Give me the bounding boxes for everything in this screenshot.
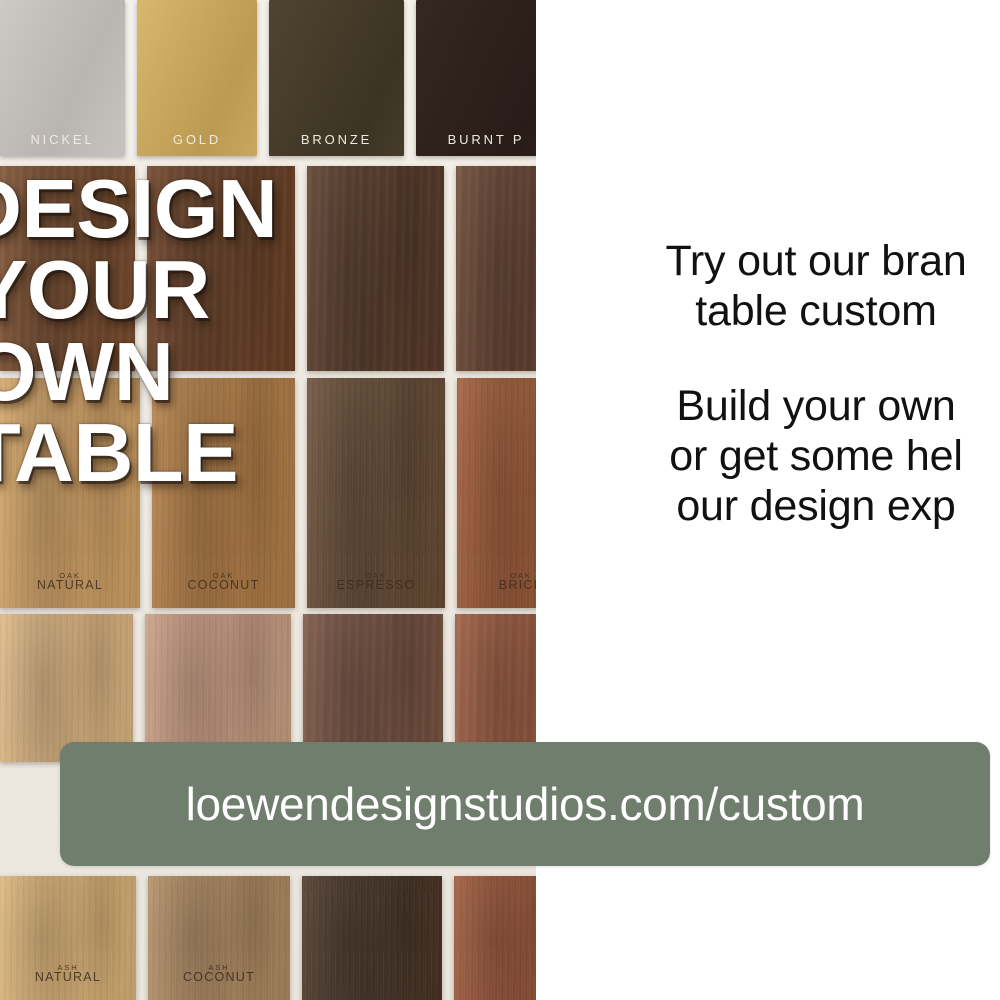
url-call-to-action-banner[interactable]: loewendesignstudios.com/custom bbox=[60, 742, 990, 866]
wood-grain-texture bbox=[457, 378, 536, 608]
wood-grain-texture bbox=[0, 378, 140, 608]
wood-grain-texture bbox=[302, 876, 442, 1000]
copy-paragraph-1: Try out our bran table custom bbox=[536, 236, 1000, 337]
promo-graphic-canvas: NICKEL GOLD BRONZE BURNT P bbox=[0, 0, 1000, 1000]
swatch-label: NICKEL bbox=[0, 133, 125, 146]
wood-finish-row-3 bbox=[0, 614, 536, 762]
swatch-wood[interactable] bbox=[303, 614, 443, 762]
wood-grain-texture bbox=[0, 614, 133, 762]
swatch-wood[interactable] bbox=[455, 614, 536, 762]
wood-grain-texture bbox=[307, 378, 445, 608]
swatch-wood[interactable] bbox=[0, 614, 133, 762]
swatch-finish-name: BURNT P bbox=[416, 133, 536, 146]
copy-line: Try out our bran bbox=[536, 236, 1000, 286]
swatch-oak-espresso[interactable]: OAK ESPRESSO bbox=[307, 378, 445, 608]
swatch-finish-name: GOLD bbox=[137, 133, 257, 146]
wood-grain-texture bbox=[0, 876, 136, 1000]
swatch-finish-name: BRONZE bbox=[269, 133, 404, 146]
swatch-finish-name: NICKEL bbox=[0, 133, 125, 146]
copy-line: Build your own bbox=[536, 381, 1000, 431]
wood-grain-texture bbox=[148, 876, 290, 1000]
swatch-metal-nickel[interactable]: NICKEL bbox=[0, 0, 125, 156]
wood-grain-texture bbox=[456, 166, 536, 371]
swatch-wood[interactable] bbox=[147, 166, 295, 371]
swatch-metal-bronze[interactable]: BRONZE bbox=[269, 0, 404, 156]
swatch-wood[interactable] bbox=[454, 876, 536, 1000]
wood-grain-texture bbox=[307, 166, 444, 371]
wood-finish-row-1 bbox=[0, 166, 536, 374]
swatch-label: BRONZE bbox=[269, 133, 404, 146]
swatch-oak-brick[interactable]: OAK BRICK bbox=[457, 378, 536, 608]
swatch-wood[interactable] bbox=[0, 166, 135, 371]
swatch-wood[interactable] bbox=[302, 876, 442, 1000]
swatch-wood[interactable] bbox=[307, 166, 444, 371]
wood-grain-texture bbox=[0, 166, 135, 371]
promo-copy-block: Try out our bran table custom Build your… bbox=[536, 236, 1000, 531]
wood-grain-texture bbox=[303, 614, 443, 762]
copy-line: our design exp bbox=[536, 481, 1000, 531]
wood-finish-row-4: ASH NATURAL ASH COCONUT bbox=[0, 876, 536, 1000]
copy-paragraph-2: Build your own or get some hel our desig… bbox=[536, 381, 1000, 532]
metal-finish-row: NICKEL GOLD BRONZE BURNT P bbox=[0, 0, 536, 163]
swatch-oak-coconut[interactable]: OAK COCONUT bbox=[152, 378, 295, 608]
copy-line: table custom bbox=[536, 286, 1000, 336]
swatch-label: GOLD bbox=[137, 133, 257, 146]
wood-grain-texture bbox=[152, 378, 295, 608]
wood-finish-row-2: OAK NATURAL OAK COCONUT OAK ESPRESSO bbox=[0, 378, 536, 610]
swatch-ash-natural[interactable]: ASH NATURAL bbox=[0, 876, 136, 1000]
swatch-oak-natural[interactable]: OAK NATURAL bbox=[0, 378, 140, 608]
url-text: loewendesignstudios.com/custom bbox=[186, 777, 865, 831]
swatch-wood[interactable] bbox=[456, 166, 536, 371]
swatch-label: BURNT P bbox=[416, 133, 536, 146]
wood-grain-texture bbox=[454, 876, 536, 1000]
copy-line: or get some hel bbox=[536, 431, 1000, 481]
swatch-ash-coconut[interactable]: ASH COCONUT bbox=[148, 876, 290, 1000]
swatch-metal-gold[interactable]: GOLD bbox=[137, 0, 257, 156]
wood-grain-texture bbox=[147, 166, 295, 371]
swatch-metal-burnt-penny[interactable]: BURNT P bbox=[416, 0, 536, 156]
wood-grain-texture bbox=[455, 614, 536, 762]
swatch-wood[interactable] bbox=[145, 614, 291, 762]
wood-grain-texture bbox=[145, 614, 291, 762]
